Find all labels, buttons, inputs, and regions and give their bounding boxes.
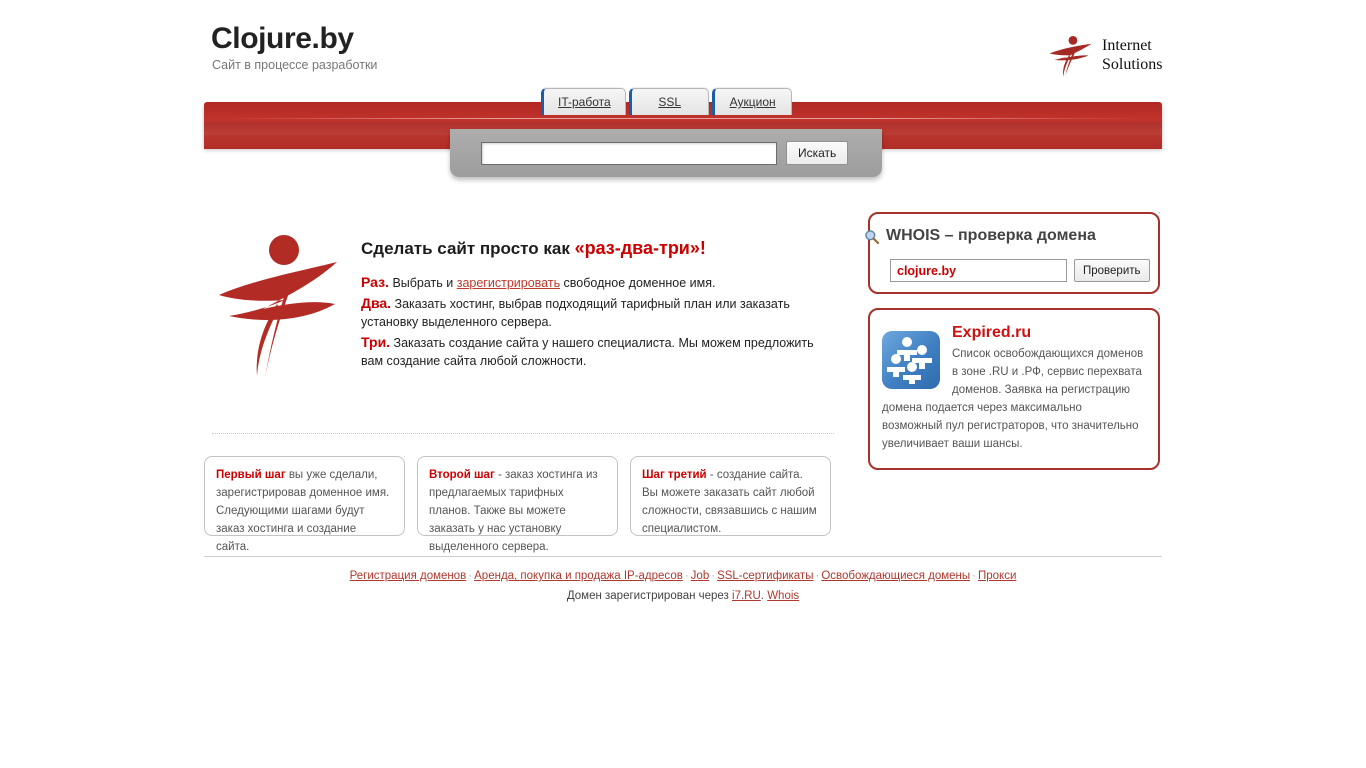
hero-step-text-before: Заказать создание сайта у нашего специал…: [361, 336, 814, 368]
whois-check-button[interactable]: Проверить: [1074, 259, 1150, 282]
footer-link-whois[interactable]: Whois: [767, 590, 799, 602]
hero-step-3: Три. Заказать создание сайта у нашего сп…: [361, 333, 839, 370]
dancing-figure-icon: [1046, 34, 1096, 78]
corner-fold-icon: [601, 456, 618, 473]
hero-step-text-after: свободное доменное имя.: [560, 276, 715, 290]
hero-step-text-before: Заказать хостинг, выбрав подходящий тари…: [361, 297, 790, 329]
step-box-lead: Первый шаг: [216, 469, 286, 481]
magnifier-icon: [864, 229, 880, 245]
step-box-2: Второй шаг - заказ хостинга из предлагае…: [417, 456, 618, 536]
footer-separator: ·: [970, 570, 978, 582]
expired-panel: Expired.ru Список освобождающихся домено…: [868, 308, 1160, 470]
hero-heading: Сделать сайт просто как «раз-два-три»!: [361, 238, 839, 259]
footer-separator: ·: [709, 570, 717, 582]
search-panel: Искать: [450, 129, 882, 177]
site-footer: Регистрация доменов·Аренда, покупка и пр…: [0, 566, 1366, 606]
page-title: Clojure.by: [211, 22, 354, 56]
tab-aukcion[interactable]: Аукцион: [712, 88, 792, 115]
footer-link-expired-domains[interactable]: Освобождающиеся домены: [821, 570, 970, 582]
footer-links: Регистрация доменов·Аренда, покупка и пр…: [0, 566, 1366, 586]
whois-panel: WHOIS – проверка домена Проверить: [868, 212, 1160, 294]
corner-fold-icon: [814, 456, 831, 473]
whois-domain-input[interactable]: [890, 259, 1067, 282]
tab-label: SSL: [658, 95, 681, 109]
hero-step-number: Три.: [361, 334, 390, 350]
footer-link-ip[interactable]: Аренда, покупка и продажа IP-адресов: [474, 570, 683, 582]
tab-ssl[interactable]: SSL: [629, 88, 709, 115]
search-button[interactable]: Искать: [786, 141, 848, 165]
footer-separator: ·: [683, 570, 691, 582]
search-input[interactable]: [481, 142, 777, 165]
content-divider: [212, 433, 834, 434]
corner-fold-icon: [1140, 308, 1160, 328]
hero-step-1: Раз. Выбрать и зарегистрировать свободно…: [361, 273, 839, 292]
main-nav-tabs: IT-работа SSL Аукцион: [541, 88, 795, 116]
step-box-body: - заказ хостинга из предлагаемых тарифны…: [429, 469, 598, 553]
brand-line-1: Internet: [1102, 36, 1162, 55]
footer-link-proxy[interactable]: Прокси: [978, 570, 1016, 582]
hero-step-number: Два.: [361, 295, 391, 311]
step-box-3: Шаг третий - создание сайта. Вы можете з…: [630, 456, 831, 536]
people-group-icon: [882, 331, 940, 389]
tab-label: Аукцион: [730, 95, 776, 109]
page-root: Clojure.by Сайт в процессе разработки In…: [0, 0, 1366, 768]
step-box-lead: Второй шаг: [429, 469, 495, 481]
tab-label: IT-работа: [558, 95, 611, 109]
hero-step-2: Два. Заказать хостинг, выбрав подходящий…: [361, 294, 839, 331]
hero-heading-plain: Сделать сайт просто как: [361, 239, 575, 258]
footer-note-prefix: Домен зарегистрирован через: [567, 590, 732, 602]
hero-section: Сделать сайт просто как «раз-два-три»! Р…: [361, 238, 839, 372]
whois-title: WHOIS – проверка домена: [886, 227, 1096, 245]
brand-text: Internet Solutions: [1102, 36, 1162, 74]
step-box-lead: Шаг третий: [642, 469, 707, 481]
register-domain-link[interactable]: зарегистрировать: [457, 276, 560, 290]
step-box-body: вы уже сделали, зарегистрировав доменное…: [216, 469, 389, 553]
footer-link-registration[interactable]: Регистрация доменов: [350, 570, 467, 582]
hero-step-number: Раз.: [361, 274, 389, 290]
footer-link-ssl[interactable]: SSL-сертификаты: [717, 570, 813, 582]
dancing-figure-hero-icon: [215, 232, 341, 380]
footer-note: Домен зарегистрирован через i7.RU. Whois: [0, 586, 1366, 606]
site-header: Clojure.by Сайт в процессе разработки In…: [0, 0, 1366, 95]
footer-link-job[interactable]: Job: [691, 570, 710, 582]
step-boxes: Первый шаг вы уже сделали, зарегистриров…: [204, 456, 831, 536]
tab-it-rabota[interactable]: IT-работа: [541, 88, 626, 115]
site-tagline: Сайт в процессе разработки: [212, 58, 377, 72]
step-box-1: Первый шаг вы уже сделали, зарегистриров…: [204, 456, 405, 536]
whois-form: Проверить: [890, 259, 1150, 282]
hero-step-text-before: Выбрать и: [389, 276, 457, 290]
corner-fold-icon: [388, 456, 405, 473]
whois-title-text: WHOIS – проверка домена: [886, 227, 1096, 244]
internet-solutions-logo: Internet Solutions: [1046, 34, 1166, 80]
corner-fold-icon: [1140, 212, 1160, 232]
footer-divider: [204, 556, 1162, 557]
hero-heading-accent: «раз-два-три»!: [575, 238, 706, 258]
brand-line-2: Solutions: [1102, 55, 1162, 74]
footer-link-i7ru[interactable]: i7.RU: [732, 590, 761, 602]
footer-separator: ·: [466, 570, 474, 582]
